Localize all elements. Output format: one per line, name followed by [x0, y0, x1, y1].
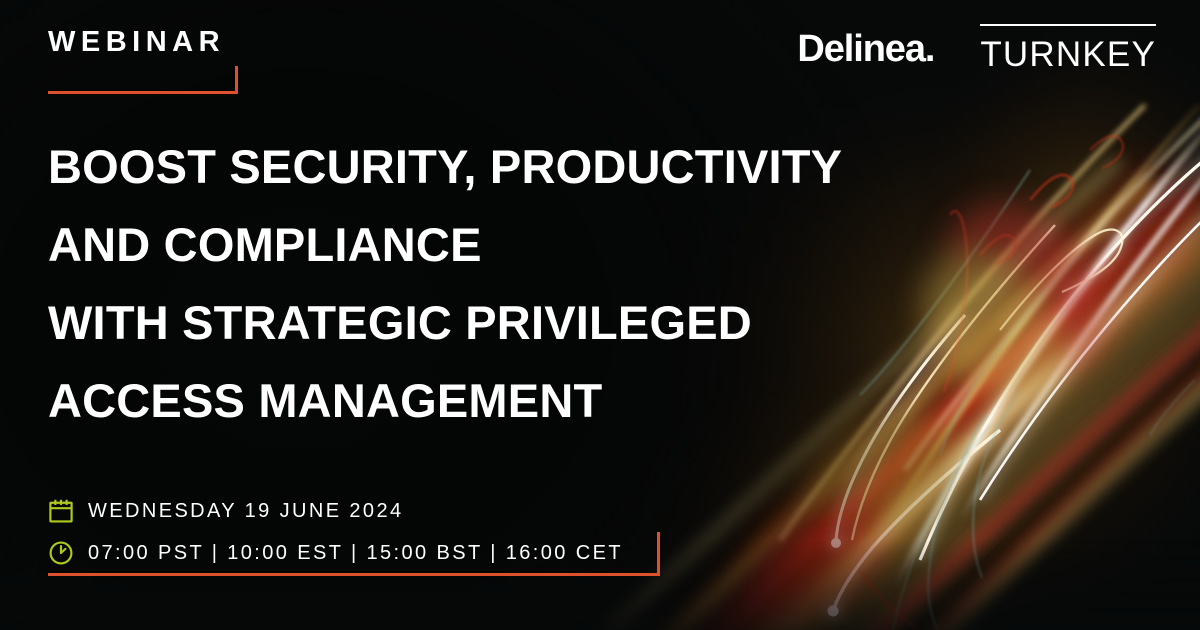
eyebrow-webinar: WEBINAR: [48, 28, 244, 57]
webinar-promo-banner: WEBINAR Delinea. TURNKEY BOOST SECURITY,…: [0, 0, 1200, 630]
eyebrow-accent-rule: [48, 66, 238, 94]
headline-line-2: AND COMPLIANCE: [48, 206, 988, 284]
delinea-logo: Delinea.: [797, 30, 934, 68]
event-details-accent-rule: [48, 532, 660, 576]
event-details: WEDNESDAY 19 JUNE 2024 07:00 PST | 10:00…: [48, 490, 688, 574]
event-date-label: WEDNESDAY 19 JUNE 2024: [88, 501, 404, 521]
headline-line-1: BOOST SECURITY, PRODUCTIVITY: [48, 128, 988, 206]
turnkey-logo-text: TURNKEY: [980, 37, 1156, 74]
event-date-row: WEDNESDAY 19 JUNE 2024: [48, 490, 688, 532]
banner-content: WEBINAR Delinea. TURNKEY BOOST SECURITY,…: [0, 0, 1200, 630]
calendar-icon: [48, 498, 74, 524]
turnkey-logo-rule: [980, 24, 1156, 26]
page-title: BOOST SECURITY, PRODUCTIVITY AND COMPLIA…: [48, 128, 988, 440]
logo-group: Delinea. TURNKEY: [797, 24, 1156, 74]
headline-line-4: ACCESS MANAGEMENT: [48, 362, 988, 440]
headline-line-3: WITH STRATEGIC PRIVILEGED: [48, 284, 988, 362]
turnkey-logo: TURNKEY: [980, 24, 1156, 74]
eyebrow-label: WEBINAR: [48, 28, 244, 57]
